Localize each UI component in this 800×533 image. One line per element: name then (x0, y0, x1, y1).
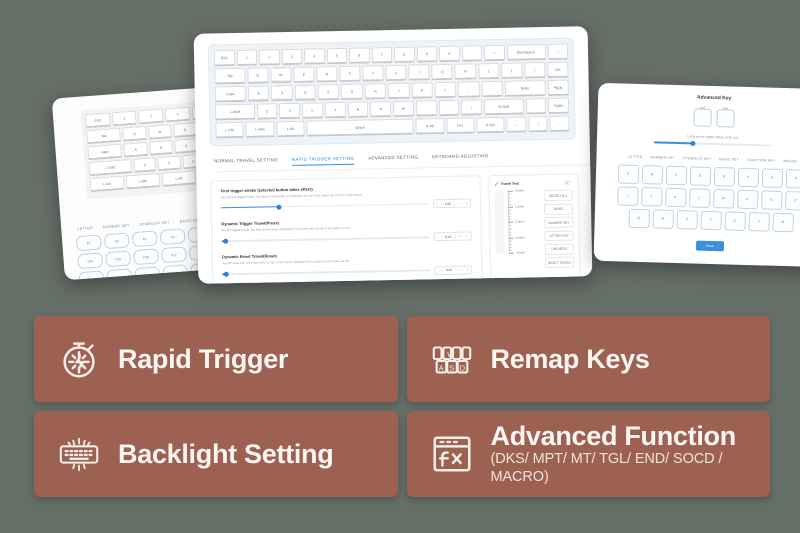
ruler-tick (508, 210, 511, 211)
key-8[interactable]: 8 (394, 47, 415, 63)
key-green-badge: 1.00 (299, 84, 311, 86)
tab-advanced-setting[interactable]: ADVANCED SETTING (368, 155, 418, 165)
advanced-category-tabs: LETTERNUMBER KEYSYMBOLIC KEYBASIC KEYFUN… (596, 153, 800, 163)
key-d[interactable]: D1.000.010.01 (294, 84, 316, 100)
orange-value: 0.01 (282, 80, 290, 83)
left-cat-number-key[interactable]: NUMBER KEY (103, 223, 130, 229)
adv-cat-symbolic-key[interactable]: SYMBOLIC KEY (683, 156, 711, 161)
travel-btn-select-all[interactable]: SELECT ALL (544, 190, 573, 201)
left-chip-pgdn[interactable]: PgDn (162, 264, 188, 280)
key-\[interactable]: \ (524, 62, 545, 78)
adv-chip-a[interactable]: A (617, 164, 639, 184)
ruler-tick (508, 231, 511, 232)
travel-btn-number-key[interactable]: NUMBER KEY (544, 217, 573, 228)
left-chip-f17[interactable]: F17 (161, 246, 187, 263)
left-chip-f15[interactable]: F15 (105, 250, 131, 267)
key-↓[interactable]: ↓ (528, 116, 548, 132)
key-n[interactable]: N (370, 101, 391, 117)
travel-btn-uncheck[interactable]: UNCHECK (545, 243, 574, 254)
left-chip-f3[interactable]: F3 (132, 230, 158, 247)
green-dot-icon (283, 85, 286, 86)
adv-chip-t[interactable]: T (700, 210, 722, 230)
key-caps[interactable]: Caps (215, 86, 246, 103)
stepper-value: 1.00 (441, 201, 455, 205)
ruler-tick (508, 200, 511, 201)
adv-chip-u[interactable]: U (724, 211, 746, 231)
setting-description: Set RT trigger travel, the blue travel v… (221, 225, 396, 233)
key-[[interactable]: [ (478, 63, 499, 79)
stepper-spacer: — (455, 201, 463, 205)
travel-test-title: Travel Test (501, 182, 520, 186)
left-chip-f2[interactable]: F2 (104, 232, 130, 249)
center-keyboard: ESC1234567890-+BackSpace~TabQW1.000.010.… (208, 38, 576, 147)
ruler-tick (509, 238, 514, 239)
key-l-win[interactable]: L-Win (126, 173, 161, 189)
key-7[interactable]: 7 (371, 47, 392, 63)
key-s[interactable]: S (149, 140, 173, 156)
ruler-tick (508, 216, 511, 217)
key-q[interactable]: Q (247, 67, 268, 83)
adv-chip-h[interactable]: H (785, 169, 800, 189)
key-y[interactable]: Y (362, 65, 383, 81)
key-x[interactable]: X (279, 103, 300, 119)
key-0[interactable]: 0 (439, 46, 460, 62)
screenshot-stage: ESC12345678TabQWERTYUICapsASDFGHJKL-Shif… (0, 0, 800, 533)
key-1[interactable]: 1 (112, 111, 138, 127)
key-slot-label: Add (700, 106, 705, 110)
adv-chip-k[interactable]: K (665, 187, 687, 207)
settings-tab-bar: NORMAL TRAVEL SETTINGRAPID TRIGGER SETTI… (214, 151, 590, 172)
left-chip-f4[interactable]: F4 (160, 228, 186, 245)
feature-card-advanced-function[interactable]: Advanced Function (DKS/ MPT/ MT/ TGL/ EN… (407, 411, 771, 497)
ruler-tick (509, 250, 512, 251)
green-dot-icon (282, 67, 285, 68)
key-r-alt[interactable]: R-Alt (416, 118, 445, 135)
key-bottom-badges: 0.010.01 (272, 98, 291, 101)
setting-slider[interactable] (221, 203, 429, 209)
key-enter[interactable]: Enter (505, 80, 546, 97)
key-u[interactable]: U (385, 65, 406, 81)
feature-subtitle: (DKS/ MPT/ MT/ TGL/ END/ SOCD / MACRO) (491, 451, 749, 486)
key-,[interactable]: , (416, 100, 437, 116)
ruler-tick (508, 194, 511, 195)
travel-test-buttons: SELECT ALLWASDNUMBER KEYLETTER KEYUNCHEC… (542, 190, 574, 268)
travel-test-card: Travel Test 0.0mm1.0mm2.0mm3.0mm4.0mm SE… (488, 173, 580, 283)
feature-card-grid: Rapid Trigger W A S D (34, 316, 770, 497)
orange-value: 0.01 (283, 98, 291, 101)
stepper-spacer: — (456, 268, 464, 272)
key-i[interactable]: I (409, 64, 430, 80)
left-cat-letter[interactable]: LETTER (77, 226, 93, 231)
advanced-key-slots: AddAdd (597, 106, 800, 130)
adv-chip-r[interactable]: R (652, 209, 674, 229)
key-→[interactable]: → (550, 116, 570, 132)
green-value: 1.00 (277, 85, 283, 87)
key-o[interactable]: O (432, 64, 453, 80)
adv-cat-mouse[interactable]: MOUSE (783, 159, 797, 163)
key-c[interactable]: C (302, 102, 323, 118)
key-w[interactable]: W1.000.010.01 (270, 67, 291, 83)
setting-slider-row: −0.01—+ (222, 232, 472, 246)
adv-chip-j[interactable]: J (641, 187, 663, 207)
adv-chip-v[interactable]: V (748, 212, 770, 232)
stepper-plus[interactable]: + (464, 268, 471, 272)
key-caps[interactable]: Caps (87, 144, 122, 160)
ruler-label: 3.0mm (516, 235, 525, 239)
key-q[interactable]: Q (122, 126, 146, 142)
ruler-tick (508, 191, 513, 192)
ruler-tick (509, 235, 512, 236)
svg-text:W: W (447, 350, 455, 359)
fx-window-icon (429, 431, 475, 477)
key-slot-label: Add (723, 106, 728, 110)
key-green-badge: 1.00 (252, 85, 264, 87)
left-cat-symbolic-key[interactable]: SYMBOLIC KEY (139, 220, 170, 226)
key-;[interactable]: ; (458, 81, 480, 97)
key-'[interactable]: ' (481, 81, 503, 97)
setting-group-2: Dynamic Reset Travel(Reset)Set RT reset … (222, 250, 472, 279)
left-chip-end[interactable]: End (134, 266, 160, 280)
travel-gauge-bar (495, 191, 505, 253)
svg-text:D: D (459, 364, 465, 373)
stepper-plus[interactable]: + (464, 234, 471, 238)
travel-test-toggle[interactable] (565, 181, 573, 186)
key-fn1[interactable]: Fn1 (446, 117, 475, 134)
key-l-ctrl[interactable]: L-Ctrl (215, 122, 244, 139)
key-tab[interactable]: Tab (214, 68, 245, 85)
ruler-tick (508, 219, 511, 220)
feature-title: Advanced Function (491, 422, 749, 450)
key--[interactable]: - (461, 45, 482, 61)
blue-value: 0.01 (297, 98, 305, 101)
setting-slider-row: −0.01—+ (222, 265, 472, 279)
ruler-label: 4.0mm (516, 251, 525, 255)
setting-title: Dynamic Trigger Travel(Press) (221, 217, 471, 227)
slider-knob[interactable] (224, 272, 229, 277)
adv-chip-b[interactable]: B (641, 165, 663, 185)
pencil-icon (495, 182, 499, 186)
adv-chip-w[interactable]: W (772, 212, 794, 232)
key-g[interactable]: G (341, 84, 363, 100)
ruler-tick (509, 253, 514, 254)
key-t[interactable]: T (339, 66, 360, 82)
adv-chip-g[interactable]: G (761, 168, 783, 188)
adv-chip-c[interactable]: C (665, 165, 687, 185)
svg-text:A: A (438, 364, 444, 373)
ruler-tick (508, 228, 511, 229)
advanced-key-slot-1[interactable]: Add (716, 109, 734, 127)
key-l-shift[interactable]: L-Shift (215, 104, 255, 121)
travel-btn-reset-travel[interactable]: RESET TRAVEL (545, 257, 574, 268)
left-chip-f16[interactable]: F16 (133, 248, 159, 265)
left-chip-pgup[interactable]: PgUp (78, 270, 104, 280)
setting-stepper[interactable]: −0.01—+ (433, 232, 471, 242)
key-l-win[interactable]: L-Win (246, 121, 275, 138)
key-green-badge: 1.00 (275, 67, 287, 69)
key-l-alt[interactable]: L-Alt (161, 170, 196, 186)
key-.[interactable]: . (438, 100, 459, 116)
green-value: 1.00 (276, 67, 282, 69)
key-pgdn[interactable]: PgDn (548, 98, 569, 114)
adv-chip-e[interactable]: E (713, 167, 735, 187)
svg-text:S: S (449, 364, 454, 373)
stepper-value: 0.01 (441, 235, 455, 239)
key-j[interactable]: J (388, 83, 410, 99)
travel-btn-wasd[interactable]: WASD (544, 203, 573, 214)
setting-title: Dynamic Reset Travel(Reset) (222, 250, 472, 260)
key-3[interactable]: 3 (165, 107, 191, 123)
feature-card-backlight-setting[interactable]: Backlight Setting (34, 411, 398, 497)
key-1[interactable]: 1 (236, 50, 257, 66)
blue-value: 0.01 (250, 99, 258, 102)
feature-title: Backlight Setting (118, 440, 333, 468)
adv-chip-l[interactable]: L (689, 188, 711, 208)
key-a[interactable]: A (123, 142, 147, 158)
feature-title: Remap Keys (491, 345, 650, 373)
feature-title: Rapid Trigger (118, 345, 288, 373)
key-r-shift[interactable]: R-Shift (484, 98, 524, 115)
adv-cat-number-key[interactable]: NUMBER KEY (650, 155, 675, 160)
glowing-keyboard-icon (56, 431, 102, 477)
stepper-spacer: — (455, 235, 463, 239)
wasd-keycaps-icon: W A S D (429, 336, 475, 382)
adv-chip-i[interactable]: I (617, 186, 639, 206)
key-+[interactable]: + (484, 45, 505, 61)
key-6[interactable]: 6 (349, 47, 370, 63)
key-pgup[interactable]: PgUp (547, 80, 569, 96)
travel-btn-letter-key[interactable]: LETTER KEY (544, 230, 573, 241)
rapid-trigger-settings-card: First trigger stroke (selected button ta… (210, 175, 482, 283)
key-p[interactable]: P (455, 63, 476, 79)
adv-chip-f[interactable]: F (737, 167, 759, 187)
key-e[interactable]: E (173, 122, 197, 138)
key-f[interactable]: F (318, 84, 340, 100)
key-b[interactable]: B (347, 101, 368, 117)
ruler-label: 0.0mm (515, 189, 524, 193)
adv-cat-function-key[interactable]: FUNCTION KEY (747, 158, 775, 163)
key-4[interactable]: 4 (304, 48, 325, 64)
tab-normal-travel-setting[interactable]: NORMAL TRAVEL SETTING (214, 157, 278, 167)
slider-knob[interactable] (223, 239, 228, 244)
setting-stepper[interactable]: −0.01—+ (434, 265, 472, 275)
green-dot-icon (260, 85, 263, 86)
setting-description: Set the first trigger travel, the green … (221, 192, 396, 200)
advanced-key-title: Advanced Key (598, 92, 800, 104)
ruler-tick (509, 241, 512, 242)
key-l[interactable]: L (435, 82, 457, 98)
key-k[interactable]: K (411, 82, 433, 98)
key-3[interactable]: 3 (281, 49, 302, 65)
ruler-label: 2.0mm (515, 220, 524, 224)
key-bottom-badges: 0.010.01 (296, 97, 315, 100)
stopwatch-lightning-icon (56, 336, 102, 382)
key-bottom-badges: 0.010.01 (271, 80, 290, 83)
left-chip-f14[interactable]: F14 (77, 252, 103, 269)
long-press-delay-label: Long press trigger delay (unit: ms) (597, 132, 800, 142)
key-e[interactable]: E (293, 66, 314, 82)
ruler-tick (508, 204, 511, 205)
blue-value: 0.01 (272, 80, 280, 83)
green-value: 1.00 (300, 84, 306, 86)
adv-chip-q[interactable]: Q (628, 208, 650, 228)
adv-cat-basic-key[interactable]: BASIC KEY (719, 157, 739, 162)
key-r[interactable]: R (316, 66, 337, 82)
travel-ruler: 0.0mm1.0mm2.0mm3.0mm4.0mm (508, 191, 539, 254)
key-m[interactable]: M (393, 101, 414, 117)
key-tab[interactable]: Tab (86, 128, 121, 144)
feature-card-remap-keys[interactable]: W A S D Remap Keys (407, 316, 771, 402)
stepper-value: 0.01 (442, 268, 456, 272)
adv-chip-s[interactable]: S (676, 210, 698, 230)
key-v[interactable]: V (325, 102, 346, 118)
save-button[interactable]: Save (696, 240, 724, 251)
adv-cat-letter[interactable]: LETTER (628, 154, 643, 158)
key-/[interactable]: / (461, 99, 482, 115)
orange-value: 0.01 (260, 98, 268, 101)
key-bottom-badges: 0.010.01 (249, 98, 268, 101)
setting-title: First trigger stroke (selected button ta… (221, 184, 471, 194)
key-backspace[interactable]: BackSpace (506, 44, 545, 61)
setting-stepper[interactable]: −1.00—+ (433, 199, 471, 209)
key-esc[interactable]: ESC (214, 50, 235, 66)
left-chip-del[interactable]: Del (106, 268, 132, 280)
adv-chip-o[interactable]: O (761, 190, 783, 210)
key-~[interactable]: ~ (547, 44, 568, 60)
travel-test-title-row: Travel Test (495, 182, 520, 186)
left-chip-f1[interactable]: F1 (76, 234, 102, 251)
ruler-tick (509, 244, 512, 245)
key-r-ctrl[interactable]: R-Ctrl (476, 117, 505, 134)
tab-keyboard-adjusting[interactable]: KEYBOARD ADJUSTING (432, 153, 489, 163)
key-space[interactable]: Space (306, 119, 414, 137)
ruler-tick (508, 207, 513, 208)
green-value: 1.00 (253, 85, 259, 87)
key-a[interactable]: A1.000.010.01 (248, 85, 270, 101)
key-h[interactable]: H (364, 83, 386, 99)
ruler-tick (509, 247, 512, 248)
slider-knob[interactable] (277, 204, 282, 209)
setting-slider[interactable] (222, 270, 430, 276)
key-5[interactable]: 5 (326, 48, 347, 64)
key-green-badge: 1.00 (276, 85, 288, 87)
feature-card-rapid-trigger[interactable]: Rapid Trigger (34, 316, 398, 402)
advanced-key-slot-0[interactable]: Add (693, 108, 711, 126)
key-↑[interactable]: ↑ (525, 98, 546, 114)
key-9[interactable]: 9 (416, 46, 437, 62)
advanced-key-window: Advanced Key AddAdd Long press trigger d… (594, 83, 800, 267)
setting-slider-row: −1.00—+ (221, 199, 471, 213)
key-esc[interactable]: ESC (85, 113, 111, 129)
ruler-tick (508, 213, 511, 214)
key-2[interactable]: 2 (259, 49, 280, 65)
key-x[interactable]: X (157, 155, 180, 171)
key-2[interactable]: 2 (138, 109, 164, 125)
blue-value: 0.01 (273, 98, 281, 101)
key-del[interactable]: Del (547, 62, 568, 78)
center-main-window: ESC1234567890-+BackSpace~TabQW1.000.010.… (194, 26, 593, 284)
green-dot-icon (307, 84, 310, 85)
key-w[interactable]: W (148, 124, 172, 140)
long-press-delay-slider[interactable] (654, 141, 772, 146)
key-l-shift[interactable]: L-Shift (88, 159, 132, 176)
adv-chip-m[interactable]: M (713, 189, 735, 209)
orange-value: 0.01 (306, 98, 314, 101)
setting-group-0: First trigger stroke (selected button ta… (221, 184, 471, 213)
key-z[interactable]: Z (133, 157, 156, 173)
ruler-label: 1.0mm (515, 204, 524, 208)
setting-group-1: Dynamic Trigger Travel(Press)Set RT trig… (221, 217, 471, 246)
ruler-tick (508, 225, 511, 226)
key-z[interactable]: Z (256, 103, 277, 119)
key-s[interactable]: S1.000.010.01 (271, 85, 293, 101)
key-←[interactable]: ← (507, 116, 527, 132)
stepper-plus[interactable]: + (463, 201, 470, 205)
key-l-ctrl[interactable]: L-Ctrl (90, 176, 125, 192)
adv-chip-d[interactable]: D (689, 166, 711, 186)
key-][interactable]: ] (501, 63, 522, 79)
advanced-key-chip-grid: ABCDEFGHIJKLMNOPQRSTUVW (607, 164, 800, 233)
adv-chip-p[interactable]: P (785, 191, 800, 211)
setting-slider[interactable] (222, 236, 430, 242)
ruler-tick (508, 197, 511, 198)
tab-rapid-trigger-setting[interactable]: RAPID TRIGGER SETTING (292, 156, 354, 166)
setting-description: Set RT reset trip, the lower right corne… (222, 258, 397, 266)
ruler-tick (508, 222, 513, 223)
key-l-alt[interactable]: L-Alt (276, 121, 305, 138)
adv-chip-n[interactable]: N (737, 189, 759, 209)
